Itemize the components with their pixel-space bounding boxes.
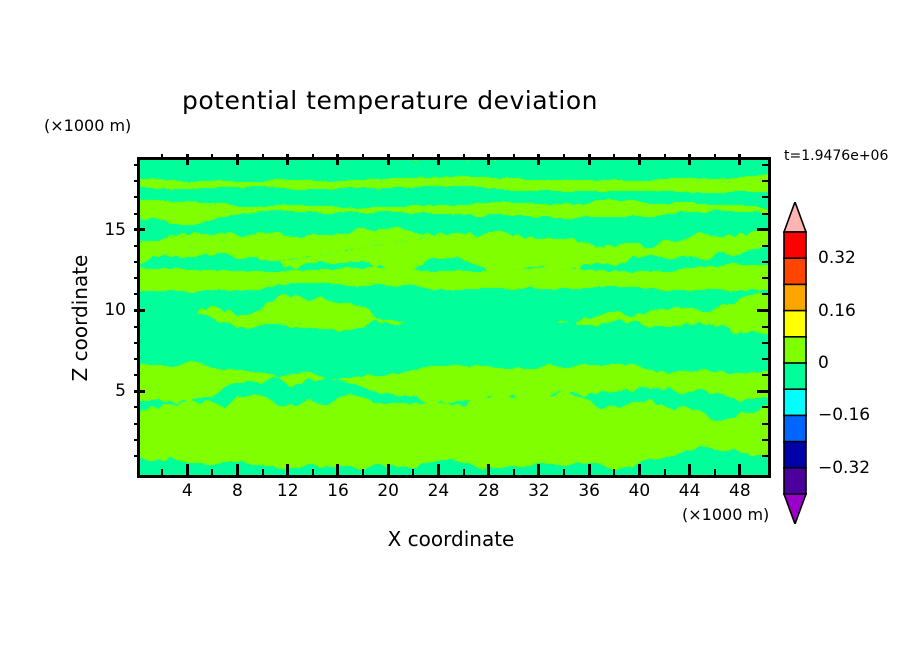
colorbar-band (784, 468, 806, 495)
colorbar-band (784, 311, 806, 338)
colorbar-band (784, 258, 806, 285)
x-tick-major-top (186, 154, 189, 165)
timestamp-annotation: t=1.9476e+06 (784, 148, 888, 164)
x-tick-label: 40 (629, 481, 651, 501)
z-tick-minor (134, 326, 140, 328)
x-tick-major-top (537, 154, 540, 165)
z-tick-minor-right (762, 374, 768, 376)
z-tick-minor (134, 455, 140, 457)
x-tick-minor-top (412, 154, 414, 160)
x-tick-minor-top (714, 154, 716, 160)
colorbar-band (784, 284, 806, 311)
z-axis-title: Z coordinate (68, 218, 92, 418)
x-tick-minor (714, 469, 716, 475)
colorbar-tick-label: −0.32 (818, 458, 870, 478)
x-tick-minor (161, 469, 163, 475)
colorbar (780, 202, 810, 524)
plot-area (137, 157, 771, 478)
z-tick-minor (134, 342, 140, 344)
z-tick-major (134, 228, 145, 231)
x-tick-minor (463, 469, 465, 475)
x-tick-label: 44 (679, 481, 701, 501)
x-tick-minor-top (463, 154, 465, 160)
x-tick-major (186, 464, 189, 475)
z-tick-minor (134, 277, 140, 279)
x-tick-minor-top (312, 154, 314, 160)
x-tick-major-top (588, 154, 591, 165)
x-tick-label: 16 (327, 481, 349, 501)
x-tick-major-top (738, 154, 741, 165)
z-tick-minor (134, 261, 140, 263)
x-tick-minor-top (211, 154, 213, 160)
x-tick-minor (312, 469, 314, 475)
z-tick-minor-right (762, 358, 768, 360)
x-tick-label: 4 (182, 481, 193, 501)
colorbar-tick-label: 0.16 (818, 301, 856, 321)
x-tick-major (537, 464, 540, 475)
x-tick-minor (563, 469, 565, 475)
z-tick-minor-right (762, 261, 768, 263)
z-axis-unit-label: (×1000 m) (44, 116, 131, 135)
x-tick-major (387, 464, 390, 475)
x-tick-minor (412, 469, 414, 475)
colorbar-band (784, 415, 806, 442)
x-tick-label: 24 (428, 481, 450, 501)
z-tick-major-right (757, 390, 768, 393)
z-tick-major (134, 309, 145, 312)
z-tick-minor-right (762, 164, 768, 166)
x-tick-major (236, 464, 239, 475)
x-tick-minor-top (161, 154, 163, 160)
z-tick-minor (134, 164, 140, 166)
z-tick-minor-right (762, 406, 768, 408)
x-tick-major (286, 464, 289, 475)
z-tick-minor-right (762, 455, 768, 457)
z-tick-minor-right (762, 180, 768, 182)
z-tick-minor (134, 180, 140, 182)
z-tick-minor-right (762, 277, 768, 279)
x-tick-label: 28 (478, 481, 500, 501)
z-tick-minor-right (762, 326, 768, 328)
colorbar-svg (780, 202, 810, 524)
x-tick-minor (262, 469, 264, 475)
x-tick-minor (362, 469, 364, 475)
z-tick-minor-right (762, 245, 768, 247)
x-tick-label: 36 (578, 481, 600, 501)
colorbar-band (784, 442, 806, 469)
colorbar-band (784, 232, 806, 259)
x-tick-minor-top (563, 154, 565, 160)
x-tick-minor-top (362, 154, 364, 160)
x-tick-major-top (387, 154, 390, 165)
z-tick-minor (134, 245, 140, 247)
z-tick-minor-right (762, 439, 768, 441)
x-tick-label: 8 (232, 481, 243, 501)
colorbar-band (784, 363, 806, 390)
x-tick-major-top (487, 154, 490, 165)
x-tick-minor-top (664, 154, 666, 160)
x-tick-major (437, 464, 440, 475)
z-tick-minor-right (762, 293, 768, 295)
z-tick-minor (134, 358, 140, 360)
colorbar-cap-bottom (784, 494, 806, 524)
colorbar-tick-label: 0.32 (818, 248, 856, 268)
x-tick-minor-top (513, 154, 515, 160)
x-tick-major (588, 464, 591, 475)
page-title: potential temperature deviation (0, 86, 780, 115)
x-tick-minor (211, 469, 213, 475)
colorbar-tick-label: −0.16 (818, 405, 870, 425)
x-tick-major-top (336, 154, 339, 165)
heatmap-field (140, 160, 768, 475)
x-tick-major (336, 464, 339, 475)
x-axis-unit-label: (×1000 m) (682, 505, 769, 524)
colorbar-tick-label: 0 (818, 353, 829, 373)
x-tick-major (688, 464, 691, 475)
colorbar-band (784, 337, 806, 364)
x-tick-minor (513, 469, 515, 475)
z-tick-minor (134, 423, 140, 425)
z-tick-minor (134, 213, 140, 215)
x-tick-major (487, 464, 490, 475)
x-tick-major (738, 464, 741, 475)
x-axis-title: X coordinate (137, 527, 765, 551)
z-tick-minor-right (762, 196, 768, 198)
x-tick-major (638, 464, 641, 475)
z-tick-major (134, 390, 145, 393)
colorbar-band (784, 389, 806, 416)
x-tick-minor-top (262, 154, 264, 160)
x-tick-major-top (286, 154, 289, 165)
z-tick-minor-right (762, 342, 768, 344)
x-tick-major-top (638, 154, 641, 165)
x-tick-label: 20 (377, 481, 399, 501)
x-tick-major-top (437, 154, 440, 165)
z-tick-major-right (757, 309, 768, 312)
x-tick-label: 12 (277, 481, 299, 501)
z-tick-minor (134, 293, 140, 295)
z-tick-minor-right (762, 213, 768, 215)
z-tick-minor (134, 406, 140, 408)
z-tick-minor (134, 374, 140, 376)
x-tick-minor (613, 469, 615, 475)
x-tick-minor-top (613, 154, 615, 160)
x-tick-major-top (688, 154, 691, 165)
z-tick-minor-right (762, 423, 768, 425)
x-tick-label: 32 (528, 481, 550, 501)
z-tick-minor (134, 196, 140, 198)
x-tick-major-top (236, 154, 239, 165)
x-tick-minor (664, 469, 666, 475)
z-tick-minor (134, 439, 140, 441)
x-tick-label: 48 (729, 481, 751, 501)
z-tick-major-right (757, 228, 768, 231)
colorbar-cap-top (784, 202, 806, 232)
